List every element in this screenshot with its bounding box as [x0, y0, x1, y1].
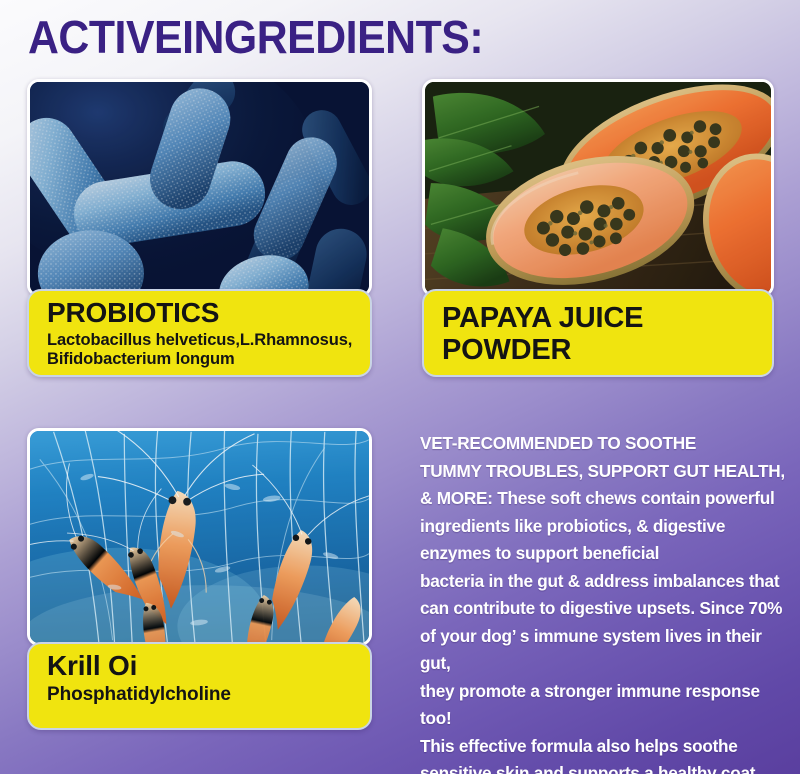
ingredient-subtitle-probiotics: Lactobacillus helveticus,L.Rhamnosus, Bi… [47, 331, 370, 371]
ingredient-label-probiotics: PROBIOTICS Lactobacillus helveticus,L.Rh… [27, 289, 372, 377]
krill-icon [30, 431, 369, 643]
ingredient-name-papaya: PAPAYA JUICE POWDER [442, 299, 772, 367]
ingredient-name-probiotics: PROBIOTICS [47, 299, 370, 328]
ingredient-label-krill: Krill Oi Phosphatidylcholine [27, 642, 372, 730]
ingredient-image-probiotics [27, 79, 372, 297]
papaya-icon [425, 82, 771, 294]
ingredient-name-krill: Krill Oi [47, 652, 370, 681]
ingredient-subtitle-krill: Phosphatidylcholine [47, 684, 370, 707]
probiotics-bacteria-illustration [30, 82, 369, 294]
papaya-fruit-illustration [425, 82, 771, 294]
ingredient-image-papaya [422, 79, 774, 297]
page-title: ACTIVEINGREDIENTS: [28, 6, 716, 68]
infographic-page: ACTIVEINGREDIENTS: [0, 0, 800, 774]
ingredient-image-krill [27, 428, 372, 646]
ingredient-label-papaya: PAPAYA JUICE POWDER [422, 289, 774, 377]
product-description-text: VET-RECOMMENDED TO SOOTHE TUMMY TROUBLES… [420, 430, 788, 774]
krill-underwater-illustration [30, 431, 369, 643]
bacteria-icon [30, 82, 369, 294]
